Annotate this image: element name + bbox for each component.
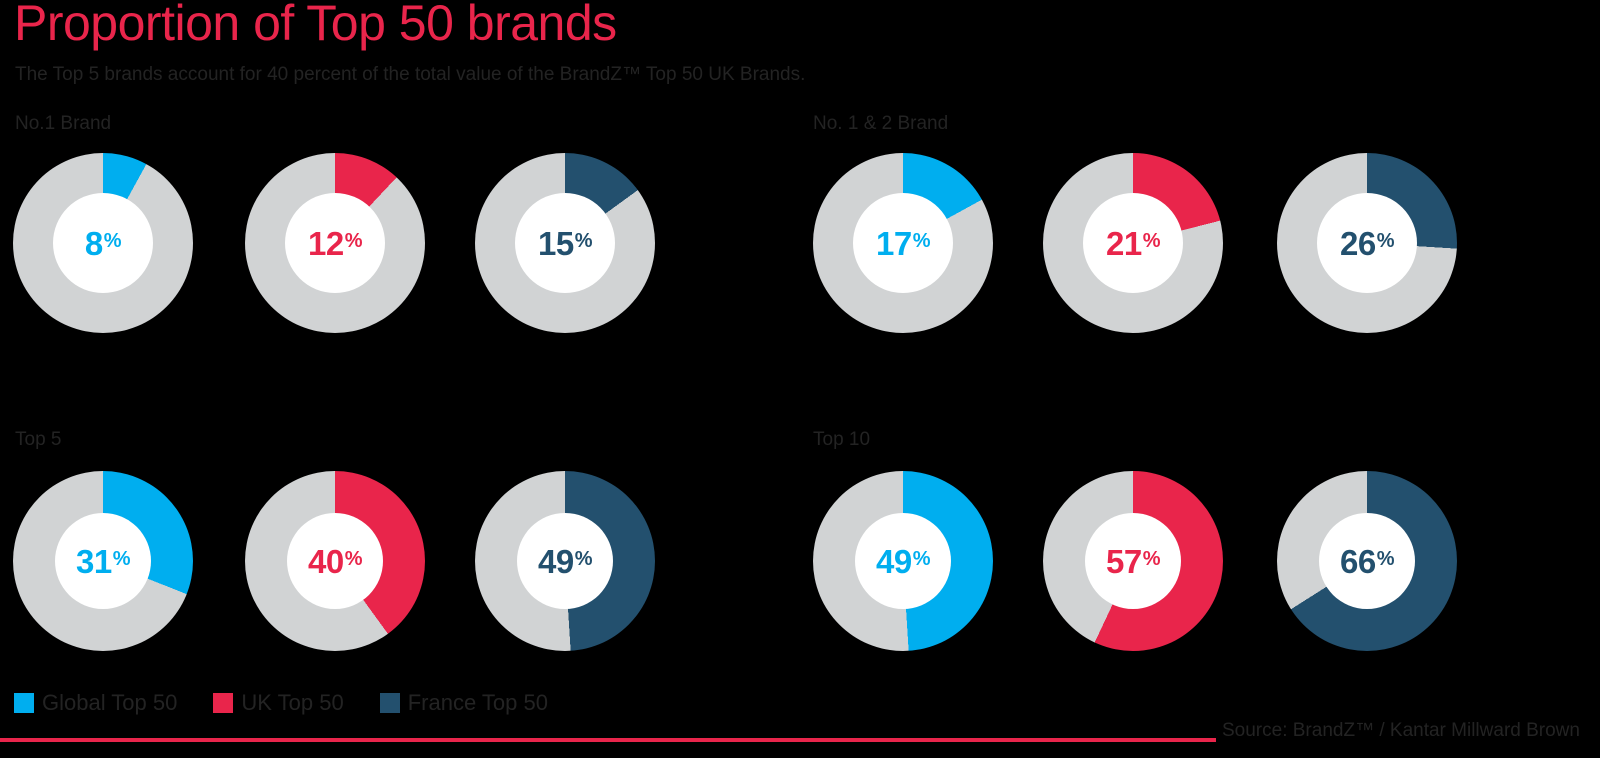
donut-value-number: 8	[85, 225, 103, 262]
donut-chart: 49%	[475, 471, 655, 651]
donut-chart: 31%	[13, 471, 193, 651]
donut-value-number: 17	[876, 225, 912, 262]
donut-chart: 49%	[813, 471, 993, 651]
legend: Global Top 50UK Top 50France Top 50	[14, 690, 584, 716]
source-credit: Source: BrandZ™ / Kantar Millward Brown	[1222, 720, 1580, 742]
donut-chart: 17%	[813, 153, 993, 333]
donut-value-number: 12	[308, 225, 344, 262]
percent-symbol: %	[1143, 230, 1160, 252]
donut-center: 57%	[1085, 513, 1181, 609]
donut-chart: 40%	[245, 471, 425, 651]
donut-value-number: 49	[876, 543, 912, 580]
donut-value-label: 8%	[85, 227, 121, 260]
legend-label: UK Top 50	[241, 690, 343, 716]
percent-symbol: %	[113, 548, 130, 570]
donut-value-number: 57	[1106, 543, 1142, 580]
donut-chart: 66%	[1277, 471, 1457, 651]
donut-value-label: 15%	[538, 227, 592, 260]
donut-chart: 12%	[245, 153, 425, 333]
donut-value-label: 12%	[308, 227, 362, 260]
donut-value-number: 15	[538, 225, 574, 262]
donut-center: 66%	[1319, 513, 1415, 609]
donut-chart: 26%	[1277, 153, 1457, 333]
donut-value-label: 26%	[1340, 227, 1394, 260]
legend-swatch-icon	[213, 693, 233, 713]
donut-chart: 15%	[475, 153, 655, 333]
legend-swatch-icon	[14, 693, 34, 713]
donut-center: 21%	[1083, 193, 1183, 293]
donut-value-label: 57%	[1106, 545, 1160, 578]
percent-symbol: %	[1377, 230, 1394, 252]
donut-value-number: 40	[308, 543, 344, 580]
legend-item[interactable]: Global Top 50	[14, 690, 177, 716]
donut-chart: 8%	[13, 153, 193, 333]
donut-value-number: 66	[1340, 543, 1376, 580]
donut-chart: 57%	[1043, 471, 1223, 651]
donut-value-label: 66%	[1340, 545, 1394, 578]
percent-symbol: %	[575, 548, 592, 570]
page-title: Proportion of Top 50 brands	[14, 0, 617, 52]
percent-symbol: %	[104, 230, 121, 252]
donut-value-number: 21	[1106, 225, 1142, 262]
section-label-no-1-brand: No.1 Brand	[15, 113, 111, 135]
donut-center: 15%	[515, 193, 615, 293]
donut-center: 26%	[1317, 193, 1417, 293]
donut-center: 12%	[285, 193, 385, 293]
footer-rule	[0, 738, 1216, 742]
donut-value-label: 17%	[876, 227, 930, 260]
donut-center: 40%	[287, 513, 383, 609]
legend-item[interactable]: France Top 50	[380, 690, 548, 716]
percent-symbol: %	[1143, 548, 1160, 570]
infographic-canvas: Proportion of Top 50 brands The Top 5 br…	[0, 0, 1600, 758]
donut-value-number: 49	[538, 543, 574, 580]
percent-symbol: %	[913, 548, 930, 570]
percent-symbol: %	[345, 548, 362, 570]
legend-item[interactable]: UK Top 50	[213, 690, 343, 716]
section-label-top-5: Top 5	[15, 429, 61, 451]
percent-symbol: %	[913, 230, 930, 252]
donut-value-number: 31	[76, 543, 112, 580]
section-label-top-10: Top 10	[813, 429, 870, 451]
donut-value-number: 26	[1340, 225, 1376, 262]
donut-center: 17%	[853, 193, 953, 293]
donut-chart: 21%	[1043, 153, 1223, 333]
donut-center: 8%	[53, 193, 153, 293]
legend-swatch-icon	[380, 693, 400, 713]
percent-symbol: %	[345, 230, 362, 252]
page-subtitle: The Top 5 brands account for 40 percent …	[15, 64, 805, 86]
donut-value-label: 40%	[308, 545, 362, 578]
percent-symbol: %	[1377, 548, 1394, 570]
section-label-no-1-and-2-brand: No. 1 & 2 Brand	[813, 113, 948, 135]
legend-label: Global Top 50	[42, 690, 177, 716]
percent-symbol: %	[575, 230, 592, 252]
donut-center: 31%	[55, 513, 151, 609]
donut-center: 49%	[517, 513, 613, 609]
donut-center: 49%	[855, 513, 951, 609]
legend-label: France Top 50	[408, 690, 548, 716]
donut-value-label: 31%	[76, 545, 130, 578]
donut-value-label: 49%	[876, 545, 930, 578]
donut-value-label: 49%	[538, 545, 592, 578]
donut-value-label: 21%	[1106, 227, 1160, 260]
